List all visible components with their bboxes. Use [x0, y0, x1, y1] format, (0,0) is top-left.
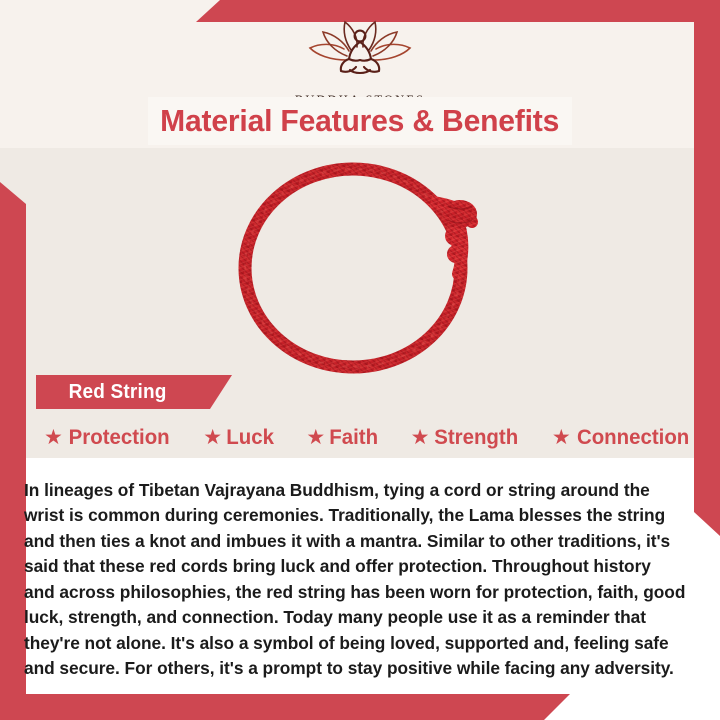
benefit-item-luck: ★ Luck — [203, 425, 275, 450]
lotus-meditation-icon — [0, 16, 720, 91]
star-icon: ★ — [552, 427, 571, 448]
benefit-label: Connection — [577, 425, 689, 450]
benefit-item-protection: ★ Protection — [44, 425, 172, 450]
benefit-label: Protection — [68, 425, 169, 450]
benefit-label: Strength — [435, 425, 519, 450]
page-title-band: Material Features & Benefits — [148, 97, 572, 145]
star-icon: ★ — [411, 427, 430, 448]
benefit-label: Faith — [329, 425, 378, 450]
product-image — [0, 150, 720, 378]
benefit-label: Luck — [226, 425, 274, 450]
benefit-item-connection: ★ Connection — [552, 425, 692, 450]
star-icon: ★ — [203, 427, 222, 448]
red-braided-cord-bracelet-icon — [220, 150, 500, 378]
description-text: In lineages of Tibetan Vajrayana Buddhis… — [24, 478, 686, 682]
benefit-item-faith: ★ Faith — [306, 425, 379, 450]
material-name: Red String — [69, 381, 167, 404]
page-title: Material Features & Benefits — [161, 103, 560, 139]
benefits-list: ★ Protection ★ Luck ★ Faith ★ Strength ★… — [44, 420, 692, 454]
star-icon: ★ — [44, 427, 63, 448]
decorative-bar-bottom — [0, 694, 570, 720]
star-icon: ★ — [306, 427, 325, 448]
brand-logo: BUDDHA STONES — [0, 16, 720, 108]
infographic-poster: BUDDHA STONES Material Features & Benefi… — [0, 0, 720, 720]
benefit-item-strength: ★ Strength — [411, 425, 521, 450]
material-ribbon-label: Red String — [36, 375, 232, 409]
